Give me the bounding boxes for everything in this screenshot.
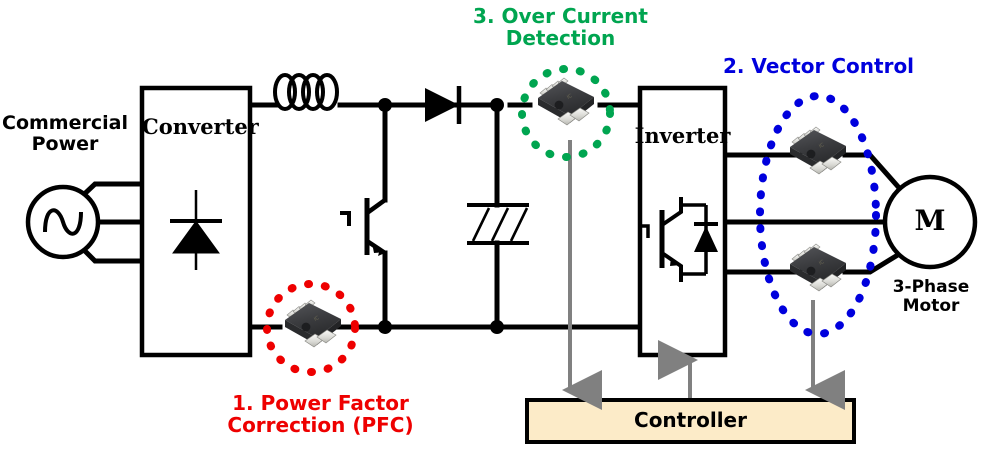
junction-bottom-right (490, 320, 504, 334)
vector-upper-chip (786, 127, 846, 181)
converter-label: Converter (142, 115, 250, 139)
inverter-label: Inverter (630, 124, 735, 148)
junction-top-left (378, 98, 392, 112)
motor-symbol-label: M (900, 205, 960, 236)
callout-ocd-label: 3. Over Current Detection (468, 5, 653, 50)
junction-top-right (490, 98, 504, 112)
ac-source-symbol (28, 187, 98, 257)
callout-vector-label: 2. Vector Control (706, 55, 931, 77)
callout-pfc-label: 1. Power Factor Correction (PFC) (213, 392, 428, 437)
ocd-sense-chip (534, 78, 594, 132)
commercial-power-label: Commercial Power (0, 113, 130, 156)
motor-caption-label: 3-Phase Motor (875, 278, 987, 316)
boost-igbt (340, 198, 386, 256)
vector-lower-chip (786, 244, 846, 298)
pfc-mosfet-chip (281, 300, 341, 354)
diagram-canvas: IC (0, 0, 1000, 463)
controller-label: Controller (527, 409, 854, 431)
junction-bottom-left (378, 320, 392, 334)
boost-inductor (275, 75, 337, 109)
dc-link-capacitor (467, 205, 529, 243)
boost-diode (425, 86, 459, 124)
